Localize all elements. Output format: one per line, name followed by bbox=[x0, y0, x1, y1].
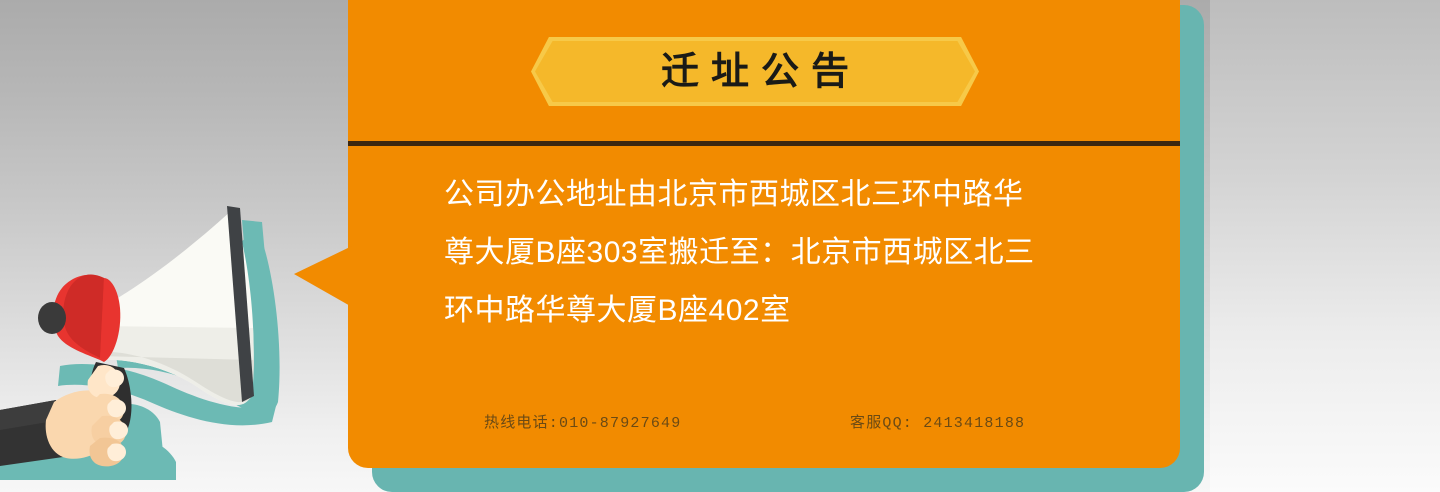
page-title: 迁址公告 bbox=[531, 37, 979, 106]
contact-footer: 热线电话:010-87927649 客服QQ: 2413418188 bbox=[444, 408, 1104, 434]
title-banner: 迁址公告 bbox=[531, 37, 979, 106]
body-line: 环中路华尊大厦B座402室 bbox=[444, 282, 1104, 340]
header-divider bbox=[348, 141, 1180, 146]
hotline-phone: 热线电话:010-87927649 bbox=[484, 411, 681, 432]
speech-bubble-tail bbox=[294, 246, 352, 307]
customer-service-qq: 客服QQ: 2413418188 bbox=[850, 411, 1025, 432]
megaphone-illustration bbox=[0, 170, 380, 492]
megaphone-knob bbox=[38, 302, 66, 334]
announcement-poster: 迁址公告 公司办公地址由北京市西城区北三环中路华 尊大厦B座303室搬迁至：北京… bbox=[0, 0, 1440, 492]
body-line: 尊大厦B座303室搬迁至：北京市西城区北三 bbox=[444, 224, 1104, 282]
body-line: 公司办公地址由北京市西城区北三环中路华 bbox=[444, 166, 1104, 224]
announcement-body: 公司办公地址由北京市西城区北三环中路华 尊大厦B座303室搬迁至：北京市西城区北… bbox=[444, 166, 1104, 340]
background-gradient-wash bbox=[1210, 0, 1440, 492]
